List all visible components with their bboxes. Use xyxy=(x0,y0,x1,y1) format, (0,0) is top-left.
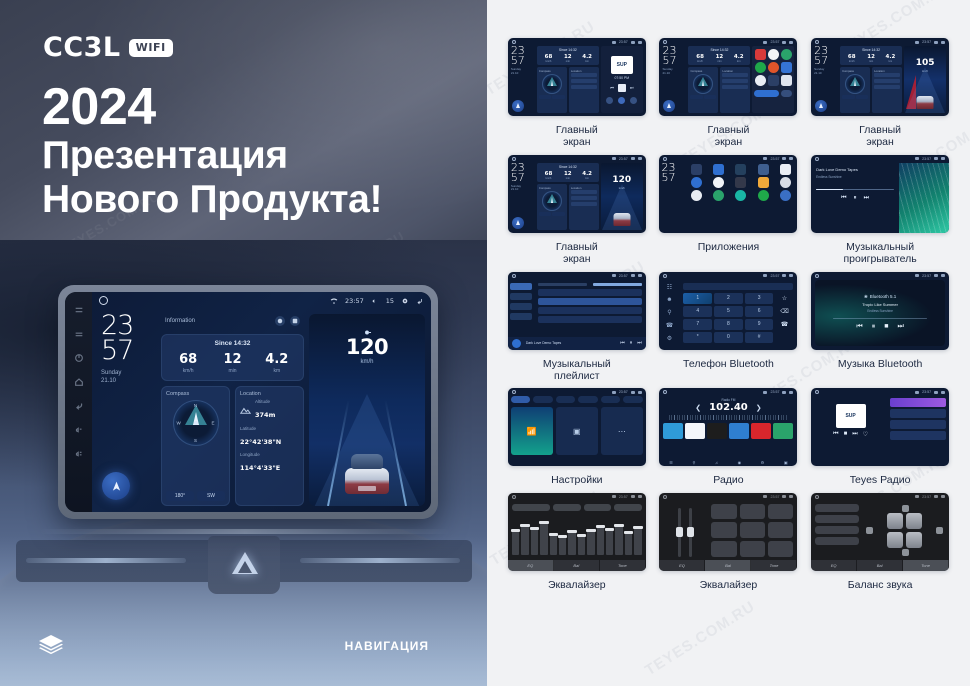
previous-icon: ⏮ xyxy=(841,195,846,202)
gallery-caption: Главныйэкран xyxy=(859,124,901,149)
watermark: TEYES.COM.RU xyxy=(642,598,758,679)
head-unit-display[interactable]: 23:57 15 23 57 Sunday xyxy=(92,292,431,512)
gallery-item[interactable]: 23:57 SUP ⏮■⏭♡ Teyes Радио xyxy=(804,388,956,486)
gallery-item[interactable]: 23:57 Dark Love Demo Tapes Endless Sunsh… xyxy=(804,155,956,266)
station-presets[interactable] xyxy=(663,423,793,439)
status-right-cluster: 23:57 15 xyxy=(330,297,424,305)
thumbnail-playlist[interactable]: 23:57 Dark Love Demo Tapes⏮⏸⏭ xyxy=(508,272,646,350)
compass-direction: SW xyxy=(197,491,225,501)
gallery-item[interactable]: 23:57 EQBalTone Баланс звука xyxy=(804,493,956,591)
home-icon[interactable] xyxy=(73,376,84,387)
balance-right-knob[interactable] xyxy=(936,527,943,534)
compass-dial: N E S W xyxy=(173,400,219,446)
radio-frequency: 102.40 xyxy=(709,402,748,413)
radio-frequency-row[interactable]: ❮ 102.40 ❯ xyxy=(663,402,793,413)
trip-stat: 4.2 km xyxy=(255,352,299,374)
mini-player-bar[interactable]: Dark Love Demo Tapes⏮⏸⏭ xyxy=(508,337,646,350)
contacts-icon: ☻ xyxy=(666,297,672,303)
carplay-icon[interactable]: ▣ xyxy=(556,407,598,455)
location-widget[interactable]: Location Altitude 374m xyxy=(235,386,304,506)
progress-bar[interactable] xyxy=(833,318,927,319)
power-icon[interactable] xyxy=(73,352,84,363)
app-icon-grid[interactable] xyxy=(686,163,795,231)
previous-icon: ⏮ xyxy=(833,431,838,438)
compass-south-label: S xyxy=(194,438,197,443)
gallery-item[interactable]: 23:57 2357Sunday21.10 Since 14:3268km/h1… xyxy=(501,155,653,266)
clock-date: 21.10 xyxy=(98,377,156,385)
gallery-item[interactable]: 23:57 Dark Love Demo Tapes⏮⏸⏭ Музыкальны… xyxy=(501,272,653,383)
compass-title: Compass xyxy=(166,391,225,397)
status-bar: 23:57 15 xyxy=(92,292,431,309)
navigation-fab-button[interactable] xyxy=(512,217,524,229)
thumbnail-home-road-red[interactable]: 23:57 2357Sunday21.10 Since 14:3268km/h1… xyxy=(811,38,949,116)
key-5[interactable]: 5 xyxy=(714,306,743,317)
gallery-caption: Приложения xyxy=(698,241,759,253)
information-actions[interactable] xyxy=(275,316,300,326)
thumbnail-equalizer-presets[interactable]: 23:57 EQBalTone xyxy=(659,493,797,571)
thumbnail-music-player[interactable]: 23:57 Dark Love Demo Tapes Endless Sunsh… xyxy=(811,155,949,233)
gallery-caption: Главныйэкран xyxy=(708,124,750,149)
progress-bar[interactable] xyxy=(816,189,894,191)
seat-grid xyxy=(887,513,922,548)
gallery-caption: Баланс звука xyxy=(848,579,913,591)
speed-road-widget[interactable]: 120 km/h xyxy=(309,314,425,506)
compass-north-label: N xyxy=(194,403,197,408)
dashboard-highlight xyxy=(40,529,450,534)
wifi-icon xyxy=(330,297,338,305)
speed-road-widget: 105 km/h xyxy=(904,46,946,113)
thumbnail-bluetooth-phone[interactable]: 23:57 ☷☻⚲☎⚙ 1 2 3 ☆ 4 xyxy=(659,272,797,350)
wifi-icon[interactable]: 📶 xyxy=(511,407,553,455)
trip-stat: 68 km/h xyxy=(166,352,210,374)
stat-value: 12 xyxy=(210,352,254,367)
phone-sidebar[interactable]: ☷☻⚲☎⚙ xyxy=(659,280,679,350)
dialpad-icon: ☷ xyxy=(667,284,672,291)
clock-widget[interactable]: 23 57 Sunday 21.10 xyxy=(98,314,156,506)
logo-model: CC3L xyxy=(43,32,121,63)
trip-stat: 12 min xyxy=(210,352,254,374)
gallery-item[interactable]: 23:57 2357Sunday21.10 Since 14:3268km/h1… xyxy=(501,38,653,149)
prev-station-icon[interactable]: ❮ xyxy=(695,404,701,412)
navigation-fab-button[interactable] xyxy=(815,100,827,112)
track-title: Tropic Like Summer xyxy=(862,302,898,307)
gallery-caption: Радио xyxy=(713,474,743,486)
car-window xyxy=(351,454,383,469)
headline: 2024 Презентация Нового Продукта! xyxy=(42,80,382,221)
thumbnail-equalizer-bars[interactable]: 23:57 EQBalTone xyxy=(508,493,646,571)
gallery-item[interactable]: 23:57 Radio FM ❮ 102.40 ❯ ☰⚲♫◉⚙▣ xyxy=(653,388,805,486)
thumb-clock-m: 57 xyxy=(511,173,535,183)
key-2[interactable]: 2 xyxy=(714,293,743,304)
thumb-clock-m: 57 xyxy=(662,56,686,66)
speed-value: 120 xyxy=(309,335,425,359)
key-1[interactable]: 1 xyxy=(683,293,712,304)
headline-year: 2024 xyxy=(42,80,382,134)
key-4[interactable]: 4 xyxy=(683,306,712,317)
thumb-clock-m: 57 xyxy=(511,56,535,66)
radio-toolbar[interactable]: ☰⚲♫◉⚙▣ xyxy=(659,460,797,465)
gallery-caption: Эквалайзер xyxy=(700,579,758,591)
thumbnail-home-apps[interactable]: 23:57 2357Sunday21.10 Since 14:3268km/h1… xyxy=(659,38,797,116)
head-unit-screen-frame: 23:57 15 23 57 Sunday xyxy=(65,292,431,512)
latitude-row: Latitude 22°42'38"N xyxy=(240,426,299,449)
gallery-caption: Teyes Радио xyxy=(850,474,911,486)
play-pause-icon: ⏸ xyxy=(872,323,876,331)
gallery-item[interactable]: 23:57 2357Sunday21.10 Since 14:3268km/h1… xyxy=(804,38,956,149)
navigation-fab-button[interactable] xyxy=(663,100,675,112)
back-icon[interactable] xyxy=(416,297,424,305)
head-unit-bezel: 23:57 15 23 57 Sunday xyxy=(58,285,438,519)
favorite-icon[interactable]: ☆ xyxy=(775,293,793,304)
bluetooth-icon: ❀ xyxy=(864,294,868,300)
station-list[interactable] xyxy=(890,398,946,464)
latitude-label: Latitude xyxy=(240,426,299,431)
headline-line1: Презентация xyxy=(42,134,382,178)
altitude-value: 374m xyxy=(255,411,275,419)
bluetooth-version: Bluetooth 5.1 xyxy=(870,294,897,299)
track-artist: Endless Sunshine xyxy=(816,175,842,179)
widgets-column: Information Since 14:32 xyxy=(161,314,304,506)
information-header: Information xyxy=(161,314,304,329)
pause-icon: ⏸ xyxy=(854,195,857,202)
presentation-slide: TEYES.COM.RU TEYES.COM.RU TEYES.COM.RU T… xyxy=(0,0,970,686)
more-icon[interactable]: ⋯ xyxy=(601,407,643,455)
status-volume-value: 15 xyxy=(386,297,394,305)
balance-presets[interactable] xyxy=(815,504,859,557)
key-0[interactable]: 0 xyxy=(714,332,743,343)
settings-tabs[interactable] xyxy=(511,396,643,403)
thumbnail-settings[interactable]: 23:57 📶 ▣ ⋯ xyxy=(508,388,646,466)
headline-line2: Нового Продукта! xyxy=(42,178,382,222)
back-icon[interactable] xyxy=(73,400,84,411)
thumbnail-sound-balance[interactable]: 23:57 EQBalTone xyxy=(811,493,949,571)
gallery-item[interactable]: 23:57 ❀Bluetooth 5.1 Tropic Like Summer … xyxy=(804,272,956,383)
eq-bottom-tabs[interactable]: EQBalTone xyxy=(508,560,646,571)
stop-icon: ■ xyxy=(884,323,888,331)
longitude-label: Longitude xyxy=(240,452,299,457)
tone-sliders[interactable] xyxy=(663,504,707,557)
thumb-clock-m: 57 xyxy=(661,173,683,183)
backspace-icon[interactable]: ⌫ xyxy=(775,306,793,317)
thumb-speed-value: 105 xyxy=(904,58,946,68)
navigation-label: НАВИГАЦИЯ xyxy=(345,639,429,653)
next-icon: ⏭ xyxy=(897,323,903,331)
compass-center-dot xyxy=(194,421,198,425)
gallery-caption: Главныйэкран xyxy=(556,241,598,266)
previous-icon: ⏮ xyxy=(856,323,862,331)
latitude-value: 22°42'38"N xyxy=(240,438,281,446)
track-artist: Endless Sunshine xyxy=(867,309,893,313)
list-icon[interactable] xyxy=(73,328,84,339)
key-6[interactable]: 6 xyxy=(745,306,774,317)
thumbnail-home-road[interactable]: 23:57 2357Sunday21.10 Since 14:3268km/h1… xyxy=(508,155,646,233)
call-log-icon: ☎ xyxy=(666,322,673,329)
thumbnail-home-media[interactable]: 23:57 2357Sunday21.10 Since 14:3268km/h1… xyxy=(508,38,646,116)
next-icon: ⏭ xyxy=(852,431,857,438)
compass-heading: 180° xyxy=(166,491,194,501)
navigation-arrow-icon xyxy=(110,480,123,493)
compass-west-label: W xyxy=(177,421,181,426)
refresh-icon[interactable] xyxy=(275,316,285,326)
screenshot-gallery-panel: TEYES.COM.RU TEYES.COM.RU TEYES.COM.RU T… xyxy=(487,0,970,686)
fade-rear-knob[interactable] xyxy=(902,549,909,556)
gallery-grid: 23:57 2357Sunday21.10 Since 14:3268km/h1… xyxy=(487,0,970,597)
next-station-icon[interactable]: ❯ xyxy=(756,404,762,412)
status-time: 23:57 xyxy=(345,297,364,305)
search-icon: ⚲ xyxy=(667,309,671,316)
trip-information-card[interactable]: Since 14:32 68 km/h 12 min xyxy=(161,334,304,381)
gallery-caption: Музыкальныйплейлист xyxy=(543,358,611,383)
key-3[interactable]: 3 xyxy=(745,293,774,304)
longitude-value: 114°4'33"E xyxy=(240,464,280,472)
speed-road-widget: 120 km/h xyxy=(601,163,643,230)
clock-minutes: 57 xyxy=(98,339,156,364)
stat-unit: km xyxy=(255,368,299,374)
settings-cards[interactable]: 📶 ▣ ⋯ xyxy=(511,407,643,455)
gallery-item[interactable]: 23:57 📶 ▣ ⋯ Настройки xyxy=(501,388,653,486)
compass-readouts: 180° SW xyxy=(166,491,225,501)
gallery-caption: Музыка Bluetooth xyxy=(838,358,922,370)
dial-keypad[interactable]: 1 2 3 ☆ 4 5 6 ⌫ 7 8 9 ☎ xyxy=(683,293,793,343)
gallery-caption: Телефон Bluetooth xyxy=(683,358,774,370)
volume-down-icon[interactable] xyxy=(73,424,84,435)
thumbnail-bluetooth-music[interactable]: 23:57 ❀Bluetooth 5.1 Tropic Like Summer … xyxy=(811,272,949,350)
volume-up-icon[interactable] xyxy=(73,448,84,459)
balance-left-knob[interactable] xyxy=(866,527,873,534)
altitude-label: Altitude xyxy=(255,399,275,404)
eq-bottom-tabs[interactable]: EQBalTone xyxy=(659,560,797,571)
visualizer xyxy=(899,163,949,233)
preset-buttons[interactable] xyxy=(711,504,793,557)
trip-since: Since 14:32 xyxy=(166,340,299,347)
key-8[interactable]: 8 xyxy=(714,319,743,330)
key-star[interactable]: * xyxy=(683,332,712,343)
headlight-icon xyxy=(363,324,372,333)
stat-unit: km/h xyxy=(166,368,210,374)
compass-widget[interactable]: Compass N E S W xyxy=(161,386,230,506)
gallery-caption: Настройки xyxy=(551,474,603,486)
clock-day: Sunday xyxy=(98,369,156,377)
gallery-caption: Музыкальныйпроигрыватель xyxy=(843,241,916,266)
playback-controls[interactable]: ⏮■⏭♡ xyxy=(814,431,887,438)
eq-band-sliders[interactable] xyxy=(512,513,642,555)
speed-unit: km/h xyxy=(309,359,425,365)
album-art: SUP xyxy=(836,404,866,428)
mountain-icon xyxy=(240,402,251,420)
thumbnail-applications[interactable]: 23:57 2357 xyxy=(659,155,797,233)
car-illustration xyxy=(345,454,389,494)
location-title: Location xyxy=(240,391,299,397)
eq-bottom-tabs[interactable]: EQBalTone xyxy=(811,560,949,571)
favorite-icon: ♡ xyxy=(863,431,868,438)
gallery-item[interactable]: 23:57 EQBalTone Эквалайзер xyxy=(653,493,805,591)
balance-pad[interactable] xyxy=(864,504,945,557)
key-hash[interactable]: # xyxy=(745,332,774,343)
product-logo: CC3L WIFI xyxy=(43,32,173,63)
stat-value: 4.2 xyxy=(255,352,299,367)
left-hero-panel: TEYES.COM.RU TEYES.COM.RU TEYES.COM.RU T… xyxy=(0,0,487,686)
trip-stats: 68 km/h 12 min 4.2 xyxy=(166,352,299,374)
gallery-caption: Главныйэкран xyxy=(556,124,598,149)
altitude-row: Altitude 374m xyxy=(240,399,299,422)
navigation-fab-button[interactable] xyxy=(512,100,524,112)
navigation-fab-button[interactable] xyxy=(102,472,130,500)
key-9[interactable]: 9 xyxy=(745,319,774,330)
hardware-button-rail[interactable] xyxy=(65,292,92,512)
thumb-clock-m: 57 xyxy=(814,56,838,66)
home-dashboard: 23 57 Sunday 21.10 Information xyxy=(92,309,431,512)
thumb-speed-value: 120 xyxy=(601,175,643,185)
wifi-badge: WIFI xyxy=(129,39,173,57)
gallery-item[interactable]: 23:57 EQBalTone Эквалайзер xyxy=(501,493,653,591)
playback-controls[interactable]: ⏮⏸⏭ xyxy=(816,195,894,202)
gallery-caption: Эквалайзер xyxy=(548,579,606,591)
track-title: Dark Love Demo Tapes xyxy=(816,167,858,172)
next-icon: ⏭ xyxy=(864,195,869,202)
lower-widgets: Compass N E S W xyxy=(161,386,304,506)
call-icon[interactable]: ☎ xyxy=(775,319,793,330)
frequency-scale[interactable] xyxy=(669,415,787,420)
thumbnail-radio[interactable]: 23:57 Radio FM ❮ 102.40 ❯ ☰⚲♫◉⚙▣ xyxy=(659,388,797,466)
number-display[interactable] xyxy=(683,283,793,290)
layers-icon[interactable] xyxy=(38,634,64,656)
menu-icon[interactable] xyxy=(73,304,84,315)
longitude-row: Longitude 114°4'33"E xyxy=(240,452,299,475)
expand-icon[interactable] xyxy=(290,316,300,326)
fade-front-knob[interactable] xyxy=(902,505,909,512)
information-title: Information xyxy=(165,318,195,324)
gallery-item[interactable]: 23:57 2357 Приложения xyxy=(653,155,805,266)
settings-icon: ⚙ xyxy=(667,335,672,342)
gallery-item[interactable]: 23:57 2357Sunday21.10 Since 14:3268km/h1… xyxy=(653,38,805,149)
settings-icon[interactable] xyxy=(401,297,409,305)
eq-preset-tabs[interactable] xyxy=(512,504,642,511)
playback-controls[interactable]: ⏮⏸■⏭ xyxy=(856,323,903,331)
stop-icon: ■ xyxy=(844,431,848,438)
volume-icon[interactable] xyxy=(371,297,379,305)
compass-east-label: E xyxy=(211,421,214,426)
stat-unit: min xyxy=(210,368,254,374)
gallery-item[interactable]: 23:57 ☷☻⚲☎⚙ 1 2 3 ☆ 4 xyxy=(653,272,805,383)
status-home-icon[interactable] xyxy=(99,296,108,305)
thumbnail-teyes-radio[interactable]: 23:57 SUP ⏮■⏭♡ xyxy=(811,388,949,466)
stat-value: 68 xyxy=(166,352,210,367)
key-7[interactable]: 7 xyxy=(683,319,712,330)
car-plate xyxy=(358,486,376,491)
footer: НАВИГАЦИЯ xyxy=(0,606,487,686)
